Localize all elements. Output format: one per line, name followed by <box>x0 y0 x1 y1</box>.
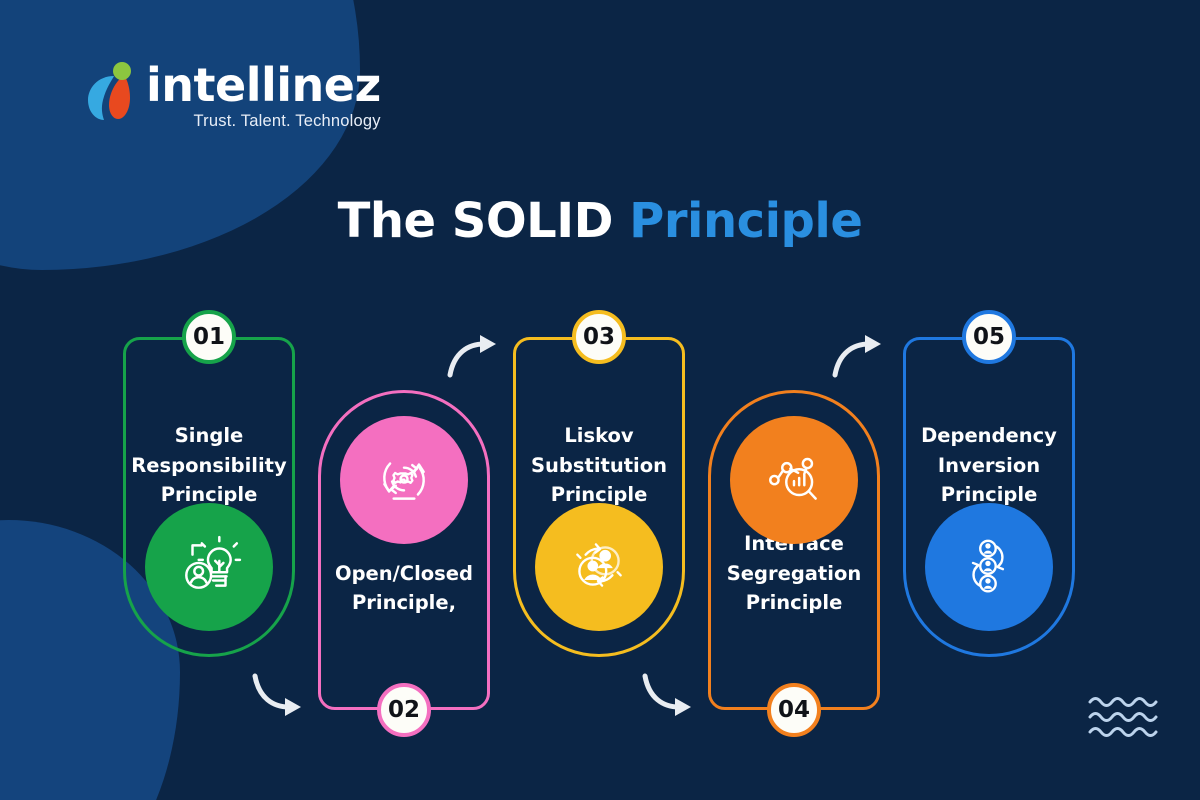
card-label-03: Liskov Substitution Principle <box>513 421 685 510</box>
users-swap-icon <box>566 532 632 603</box>
network-search-icon <box>761 445 827 516</box>
card-badge-05: 05 <box>962 310 1016 364</box>
arrow-01-to-02 <box>249 668 315 722</box>
arrow-04-to-05 <box>829 329 895 383</box>
principle-card-01[interactable]: 01 Single Responsibility Principle <box>123 337 295 657</box>
intellinez-mark-icon <box>84 62 142 128</box>
principle-card-04[interactable]: 04 Interface Segregation Principle <box>708 390 880 710</box>
brand-name: intellinez <box>146 62 381 108</box>
brand-logo: intellinez Trust. Talent. Technology <box>84 62 381 131</box>
brand-tagline: Trust. Talent. Technology <box>146 112 381 131</box>
page-title-accent: Principle <box>629 193 862 249</box>
card-icon-circle-03 <box>535 503 663 631</box>
principle-card-02[interactable]: 02 Open/Closed Principle, <box>318 390 490 710</box>
card-icon-circle-01 <box>145 503 273 631</box>
card-label-01: Single Responsibility Principle <box>123 421 295 510</box>
card-icon-circle-02 <box>340 416 468 544</box>
wave-decoration-icon <box>1088 694 1162 745</box>
card-label-05: Dependency Inversion Principle <box>903 421 1075 510</box>
principle-card-03[interactable]: 03 Liskov Substitution Principle <box>513 337 685 657</box>
card-icon-circle-04 <box>730 416 858 544</box>
arrow-02-to-03 <box>444 329 510 383</box>
lightbulb-person-icon <box>176 532 242 603</box>
card-icon-circle-05 <box>925 503 1053 631</box>
page-title: The SOLID Principle <box>0 193 1200 249</box>
card-badge-01: 01 <box>182 310 236 364</box>
page-title-lead: The SOLID <box>338 193 630 249</box>
principle-card-05[interactable]: 05 Dependency Inversion Principle <box>903 337 1075 657</box>
gear-refresh-icon <box>371 445 437 516</box>
card-badge-03: 03 <box>572 310 626 364</box>
card-label-02: Open/Closed Principle, <box>318 559 490 618</box>
card-badge-04: 04 <box>767 683 821 737</box>
dependency-users-icon <box>956 532 1022 603</box>
card-badge-02: 02 <box>377 683 431 737</box>
arrow-03-to-04 <box>639 668 705 722</box>
